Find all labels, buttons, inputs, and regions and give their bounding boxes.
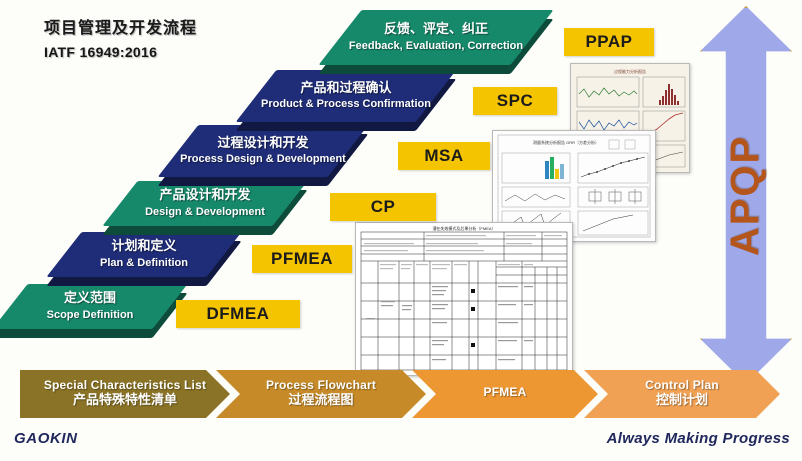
step-process-design-development: 过程设计和开发 Process Design & Development: [178, 125, 348, 177]
tag-dfmea[interactable]: DFMEA: [176, 300, 300, 328]
chevron-label-en: Process Flowchart: [266, 379, 376, 393]
deliverables-chevron-bar: Special Characteristics List 产品特殊特性清单 Pr…: [20, 370, 780, 418]
apqp-arrow: APQP: [700, 6, 792, 384]
tag-spc[interactable]: SPC: [473, 87, 557, 115]
fmea-form-graphic: 潜在失效模式及后果分析（FMEA）: [356, 223, 572, 375]
chevron-label-en: PFMEA: [484, 386, 527, 400]
tag-ppap[interactable]: PPAP: [564, 28, 654, 56]
brand-name: GAOKIN: [14, 430, 78, 447]
chevron-pfmea[interactable]: PFMEA: [412, 370, 598, 418]
tag-pfmea[interactable]: PFMEA: [252, 245, 352, 273]
chevron-special-characteristics-list[interactable]: Special Characteristics List 产品特殊特性清单: [20, 370, 230, 418]
chevron-process-flowchart[interactable]: Process Flowchart 过程流程图: [216, 370, 426, 418]
page-title: 项目管理及开发流程 IATF 16949:2016: [44, 14, 197, 60]
step-scope-definition: 定义范围 Scope Definition: [10, 284, 170, 329]
chevron-control-plan[interactable]: Control Plan 控制计划: [584, 370, 780, 418]
brand-slogan: Always Making Progress: [607, 430, 790, 447]
step-feedback-evaluation-correction: 反馈、评定、纠正 Feedback, Evaluation, Correctio…: [340, 10, 532, 65]
chevron-label-cn: 过程流程图: [288, 394, 353, 409]
apqp-label-holder: APQP: [700, 6, 792, 384]
diagram-canvas: 项目管理及开发流程 IATF 16949:2016 APQP 过程能力分析报告: [0, 0, 802, 461]
step-product-process-confirmation: 产品和过程确认 Product & Process Confirmation: [256, 70, 436, 122]
tag-msa[interactable]: MSA: [398, 142, 490, 170]
chevron-label-cn: 产品特殊特性清单: [73, 394, 177, 409]
apqp-label: APQP: [724, 134, 769, 255]
title-standard: IATF 16949:2016: [44, 44, 197, 60]
chevron-label-cn: 控制计划: [656, 394, 708, 409]
svg-text:潜在失效模式及后果分析（FMEA）: 潜在失效模式及后果分析（FMEA）: [432, 225, 495, 231]
svg-text:过程能力分析报告: 过程能力分析报告: [614, 68, 646, 74]
fmea-control-plan-form-thumbnail: 潜在失效模式及后果分析（FMEA）: [355, 222, 573, 376]
chevron-label-en: Special Characteristics List: [44, 379, 206, 393]
chevron-label-en: Control Plan: [645, 379, 719, 393]
step-plan-definition: 计划和定义 Plan & Definition: [64, 232, 224, 277]
step-design-development: 产品设计和开发 Design & Development: [120, 181, 290, 226]
step-surface: [102, 181, 307, 226]
title-chinese: 项目管理及开发流程: [44, 14, 197, 38]
tag-cp[interactable]: CP: [330, 193, 436, 221]
svg-text:测量系统分析报告 GRR（方差分析）: 测量系统分析报告 GRR（方差分析）: [533, 139, 599, 145]
